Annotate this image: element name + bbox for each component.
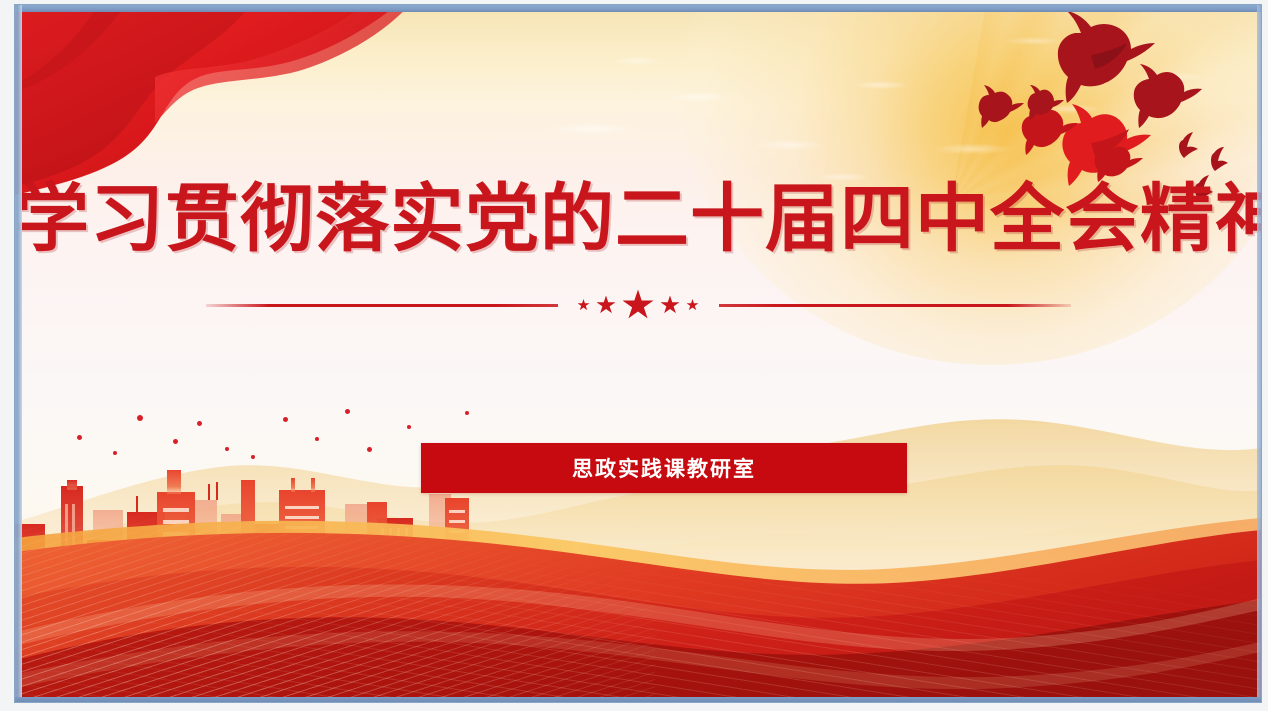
star-icon [597,296,616,315]
divider-line-left [206,304,558,307]
slide-frame-top-border [15,5,1261,12]
subtitle-text: 思政实践课教研室 [572,453,756,483]
subtitle-banner: 思政实践课教研室 [421,443,907,493]
presentation-slide: 学习贯彻落实党的二十届四中全会精神 思政实践课教研室 [14,4,1262,703]
slide-frame-left-border [15,5,22,702]
slide-frame-bottom-border [15,697,1261,702]
star-icon [687,299,699,311]
divider-stars [558,290,719,321]
slide-frame-right-border [1257,5,1261,702]
star-icon [661,296,680,315]
star-divider [15,288,1261,322]
slide-content: 学习贯彻落实党的二十届四中全会精神 思政实践课教研室 [15,5,1261,702]
divider-line-right [719,304,1071,307]
slide-frame: 学习贯彻落实党的二十届四中全会精神 思政实践课教研室 [0,0,1268,711]
page-title: 学习贯彻落实党的二十届四中全会精神 [15,177,1261,261]
star-icon [578,299,590,311]
star-icon [623,290,654,321]
